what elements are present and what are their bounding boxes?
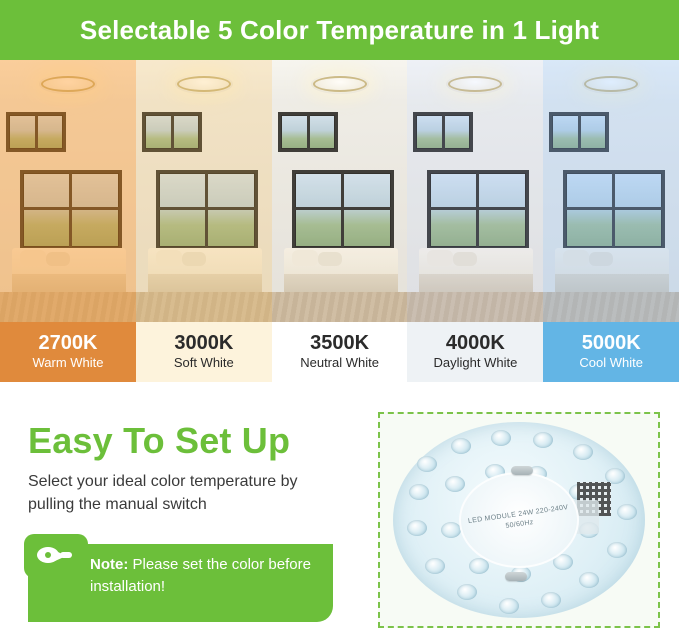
kelvin-name: Warm White [32, 354, 103, 372]
panel-label-2700k: 2700K Warm White [0, 322, 136, 382]
bedroom-photo-cool-icon [543, 60, 679, 322]
product-infographic: Selectable 5 Color Temperature in 1 Ligh… [0, 0, 679, 641]
bedroom-photo-soft-icon [136, 60, 272, 322]
panel-label-3500k: 3500K Neutral White [272, 322, 408, 382]
setup-heading: Easy To Set Up [28, 420, 290, 462]
kelvin-value: 3000K [174, 332, 233, 354]
kelvin-name: Cool White [579, 354, 643, 372]
page-title: Selectable 5 Color Temperature in 1 Ligh… [80, 15, 599, 46]
kelvin-value: 3500K [310, 332, 369, 354]
kelvin-name: Neutral White [300, 354, 379, 372]
hand-pull-switch-icon [32, 538, 78, 572]
header-banner: Selectable 5 Color Temperature in 1 Ligh… [0, 0, 679, 60]
bedroom-photo-warm-icon [0, 60, 136, 322]
color-panel-3500k: 3500K Neutral White [272, 60, 408, 382]
bedroom-photo-neutral-icon [272, 60, 408, 322]
kelvin-value: 2700K [39, 332, 98, 354]
panel-label-4000k: 4000K Daylight White [407, 322, 543, 382]
note-text-wrap: Note: Please set the color before instal… [90, 554, 326, 598]
setup-section: Easy To Set Up Select your ideal color t… [0, 394, 679, 641]
note-callout: Note: Please set the color before instal… [28, 544, 333, 622]
note-label: Note: [90, 556, 128, 573]
led-module: LED MODULE 24W 220-240V 50/60Hz [393, 422, 645, 618]
kelvin-value: 4000K [446, 332, 505, 354]
color-panel-3000k: 3000K Soft White [136, 60, 272, 382]
setup-description: Select your ideal color temperature by p… [28, 470, 338, 516]
kelvin-value: 5000K [582, 332, 641, 354]
color-panel-2700k: 2700K Warm White [0, 60, 136, 382]
color-temperature-panels: 2700K Warm White 3000K Soft White [0, 60, 679, 382]
bedroom-photo-daylight-icon [407, 60, 543, 322]
kelvin-name: Daylight White [433, 354, 517, 372]
color-panel-5000k: 5000K Cool White [543, 60, 679, 382]
color-panel-4000k: 4000K Daylight White [407, 60, 543, 382]
note-badge [24, 534, 88, 578]
panel-label-3000k: 3000K Soft White [136, 322, 272, 382]
led-module-photo-icon: LED MODULE 24W 220-240V 50/60Hz [378, 412, 660, 628]
panel-label-5000k: 5000K Cool White [543, 322, 679, 382]
kelvin-name: Soft White [174, 354, 234, 372]
